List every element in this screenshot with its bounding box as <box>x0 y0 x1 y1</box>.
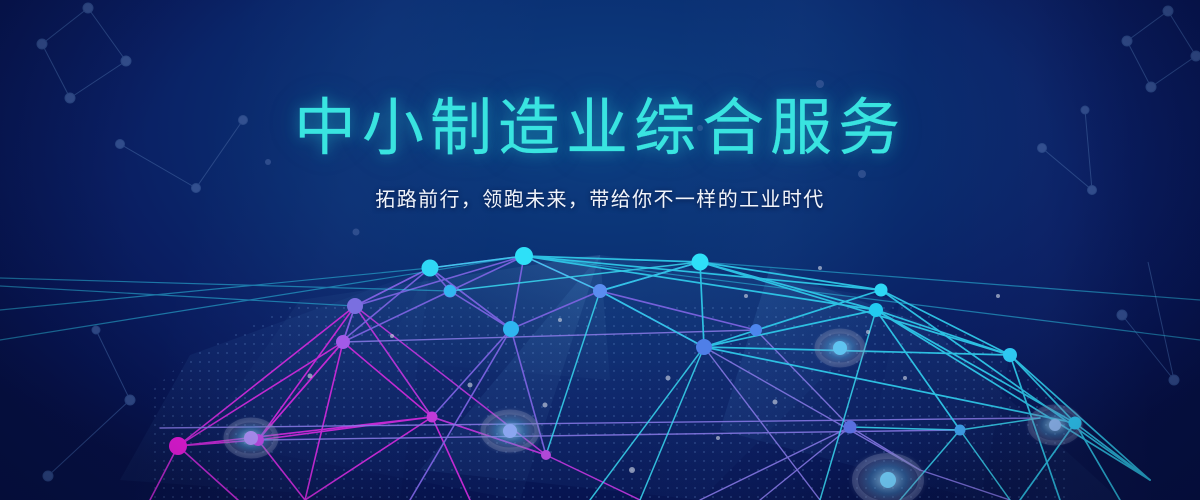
background-vignette <box>0 0 1200 500</box>
hero-banner: 中小制造业综合服务 拓路前行，领跑未来，带给你不一样的工业时代 <box>0 0 1200 500</box>
